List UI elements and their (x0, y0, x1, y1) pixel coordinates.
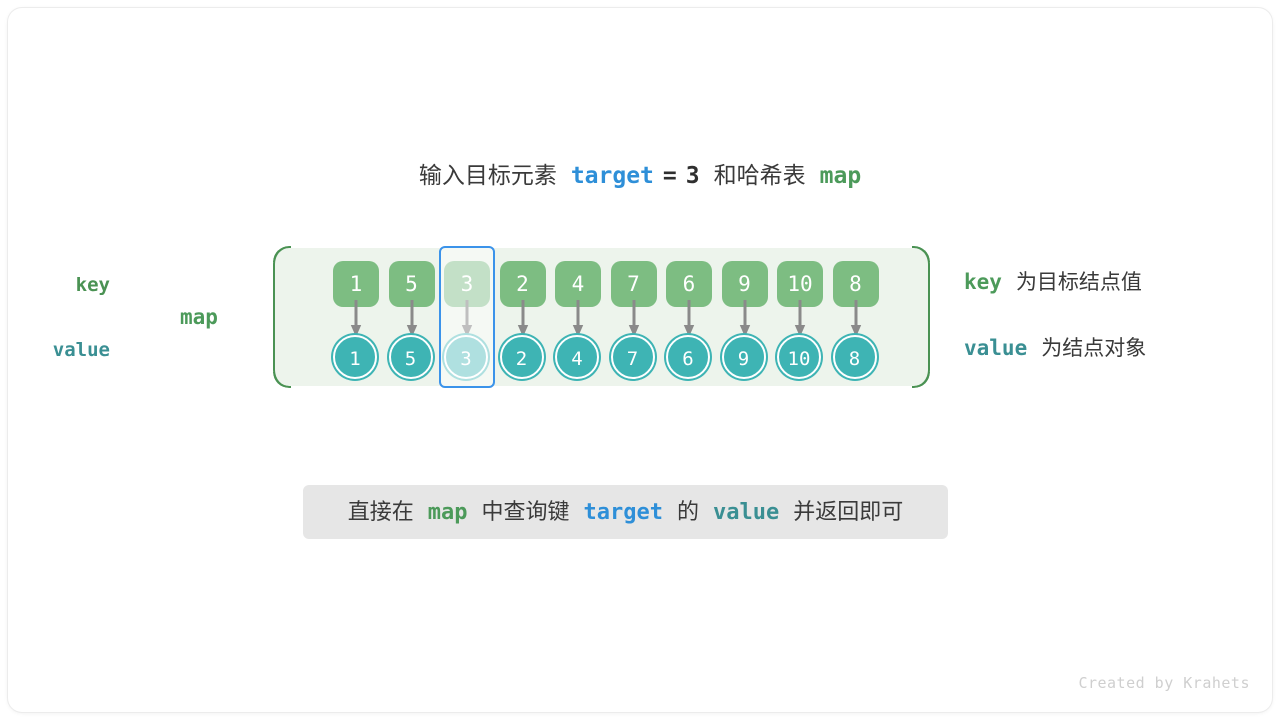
caption-value-keyword: value (713, 500, 779, 525)
hash-map-cell[interactable]: 99 (717, 248, 773, 386)
selected-entry-highlight (439, 246, 495, 388)
diagram-card: 输入目标元素target=3和哈希表map map key value 1155… (8, 8, 1272, 712)
hash-map-cell[interactable]: 88 (828, 248, 884, 386)
down-arrow-icon (517, 300, 529, 338)
down-arrow-icon (683, 300, 695, 338)
map-label: map (180, 305, 218, 329)
hash-map-cell[interactable]: 66 (661, 248, 717, 386)
legend-key-desc: 为目标结点值 (1016, 271, 1142, 294)
hash-map-cell[interactable]: 55 (384, 248, 440, 386)
value-circle[interactable]: 1 (333, 335, 377, 379)
caption-part1: 直接在 (348, 499, 414, 524)
value-circle[interactable]: 10 (777, 335, 821, 379)
down-arrow-icon (850, 300, 862, 338)
value-circle[interactable]: 9 (722, 335, 766, 379)
title-middle: 和哈希表 (714, 162, 806, 188)
value-circle[interactable]: 4 (555, 335, 599, 379)
hash-map-cell[interactable]: 77 (606, 248, 662, 386)
hash-map-container: 1155332244776699101088 (273, 248, 930, 386)
caption-part3: 的 (677, 499, 699, 524)
title-prefix: 输入目标元素 (419, 162, 557, 188)
legend-value-desc: 为结点对象 (1041, 337, 1146, 360)
down-arrow-icon (572, 300, 584, 338)
hash-map-cell[interactable]: 44 (550, 248, 606, 386)
caption-part4: 并返回即可 (793, 499, 903, 524)
value-circle[interactable]: 2 (500, 335, 544, 379)
value-circle[interactable]: 7 (611, 335, 655, 379)
down-arrow-icon (628, 300, 640, 338)
down-arrow-icon (739, 300, 751, 338)
down-arrow-icon (406, 300, 418, 338)
caption-part2: 中查询键 (482, 499, 570, 524)
caption-target-keyword: target (584, 500, 663, 525)
caption-map-keyword: map (428, 500, 468, 525)
hash-map-cell[interactable]: 11 (328, 248, 384, 386)
row-label-value: value (30, 339, 110, 361)
value-circle[interactable]: 6 (666, 335, 710, 379)
legend-key-line: key为目标结点值 (964, 266, 1142, 296)
row-label-key: key (30, 274, 110, 296)
value-circle[interactable]: 5 (389, 335, 433, 379)
title-target-value: 3 (686, 163, 700, 189)
title-map-keyword: map (820, 163, 862, 189)
hash-map-cells: 1155332244776699101088 (275, 248, 932, 386)
credit-text: Created by Krahets (1078, 674, 1250, 692)
down-arrow-icon (794, 300, 806, 338)
down-arrow-icon (350, 300, 362, 338)
caption-box: 直接在map中查询键target的value并返回即可 (303, 485, 948, 539)
legend-value-keyword: value (964, 336, 1027, 360)
legend-value-line: value为结点对象 (964, 332, 1146, 362)
title-equals: = (663, 163, 677, 189)
legend-key-keyword: key (964, 270, 1002, 294)
hash-map-cell[interactable]: 1010 (772, 248, 828, 386)
hash-map-cell[interactable]: 22 (495, 248, 551, 386)
title-target-keyword: target (571, 163, 654, 189)
title-line: 输入目标元素target=3和哈希表map (8, 158, 1272, 193)
value-circle[interactable]: 8 (833, 335, 877, 379)
